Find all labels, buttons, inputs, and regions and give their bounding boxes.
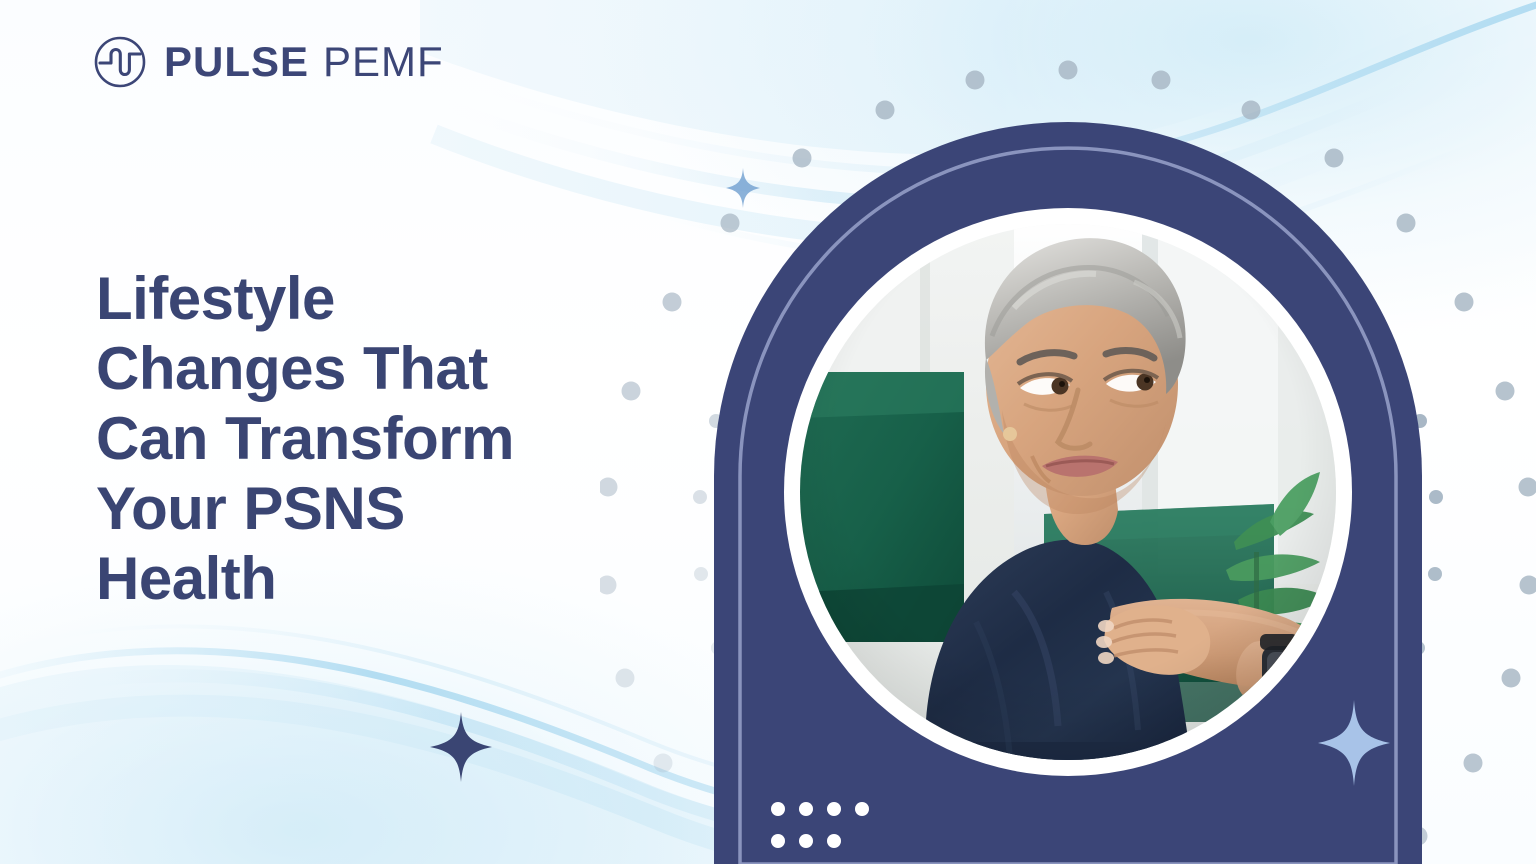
hero-photo-panel <box>714 122 1422 864</box>
brand-wordmark: PULSEPEMF <box>164 41 444 83</box>
page-title: Lifestyle Changes That Can Transform You… <box>96 264 616 613</box>
pulse-waveform-circle-icon <box>94 36 146 88</box>
headline-line-1: Lifestyle <box>96 265 335 332</box>
headline-line-2: Changes That <box>96 335 488 402</box>
sparkle-navy-icon <box>430 712 492 782</box>
sparkle-light-icon <box>1318 700 1390 786</box>
headline-line-4: Your PSNS <box>96 475 405 542</box>
brand-word-pulse: PULSE <box>164 38 309 85</box>
brand-word-pemf: PEMF <box>323 38 444 85</box>
headline-line-3: Can Transform <box>96 405 514 472</box>
headline-line-5: Health <box>96 545 276 612</box>
sparkle-small-icon <box>726 168 760 208</box>
dot-grid-decoration <box>770 795 880 855</box>
brand-logo[interactable]: PULSEPEMF <box>94 36 444 88</box>
hero-banner-canvas: PULSEPEMF Lifestyle Changes That Can Tra… <box>0 0 1536 864</box>
